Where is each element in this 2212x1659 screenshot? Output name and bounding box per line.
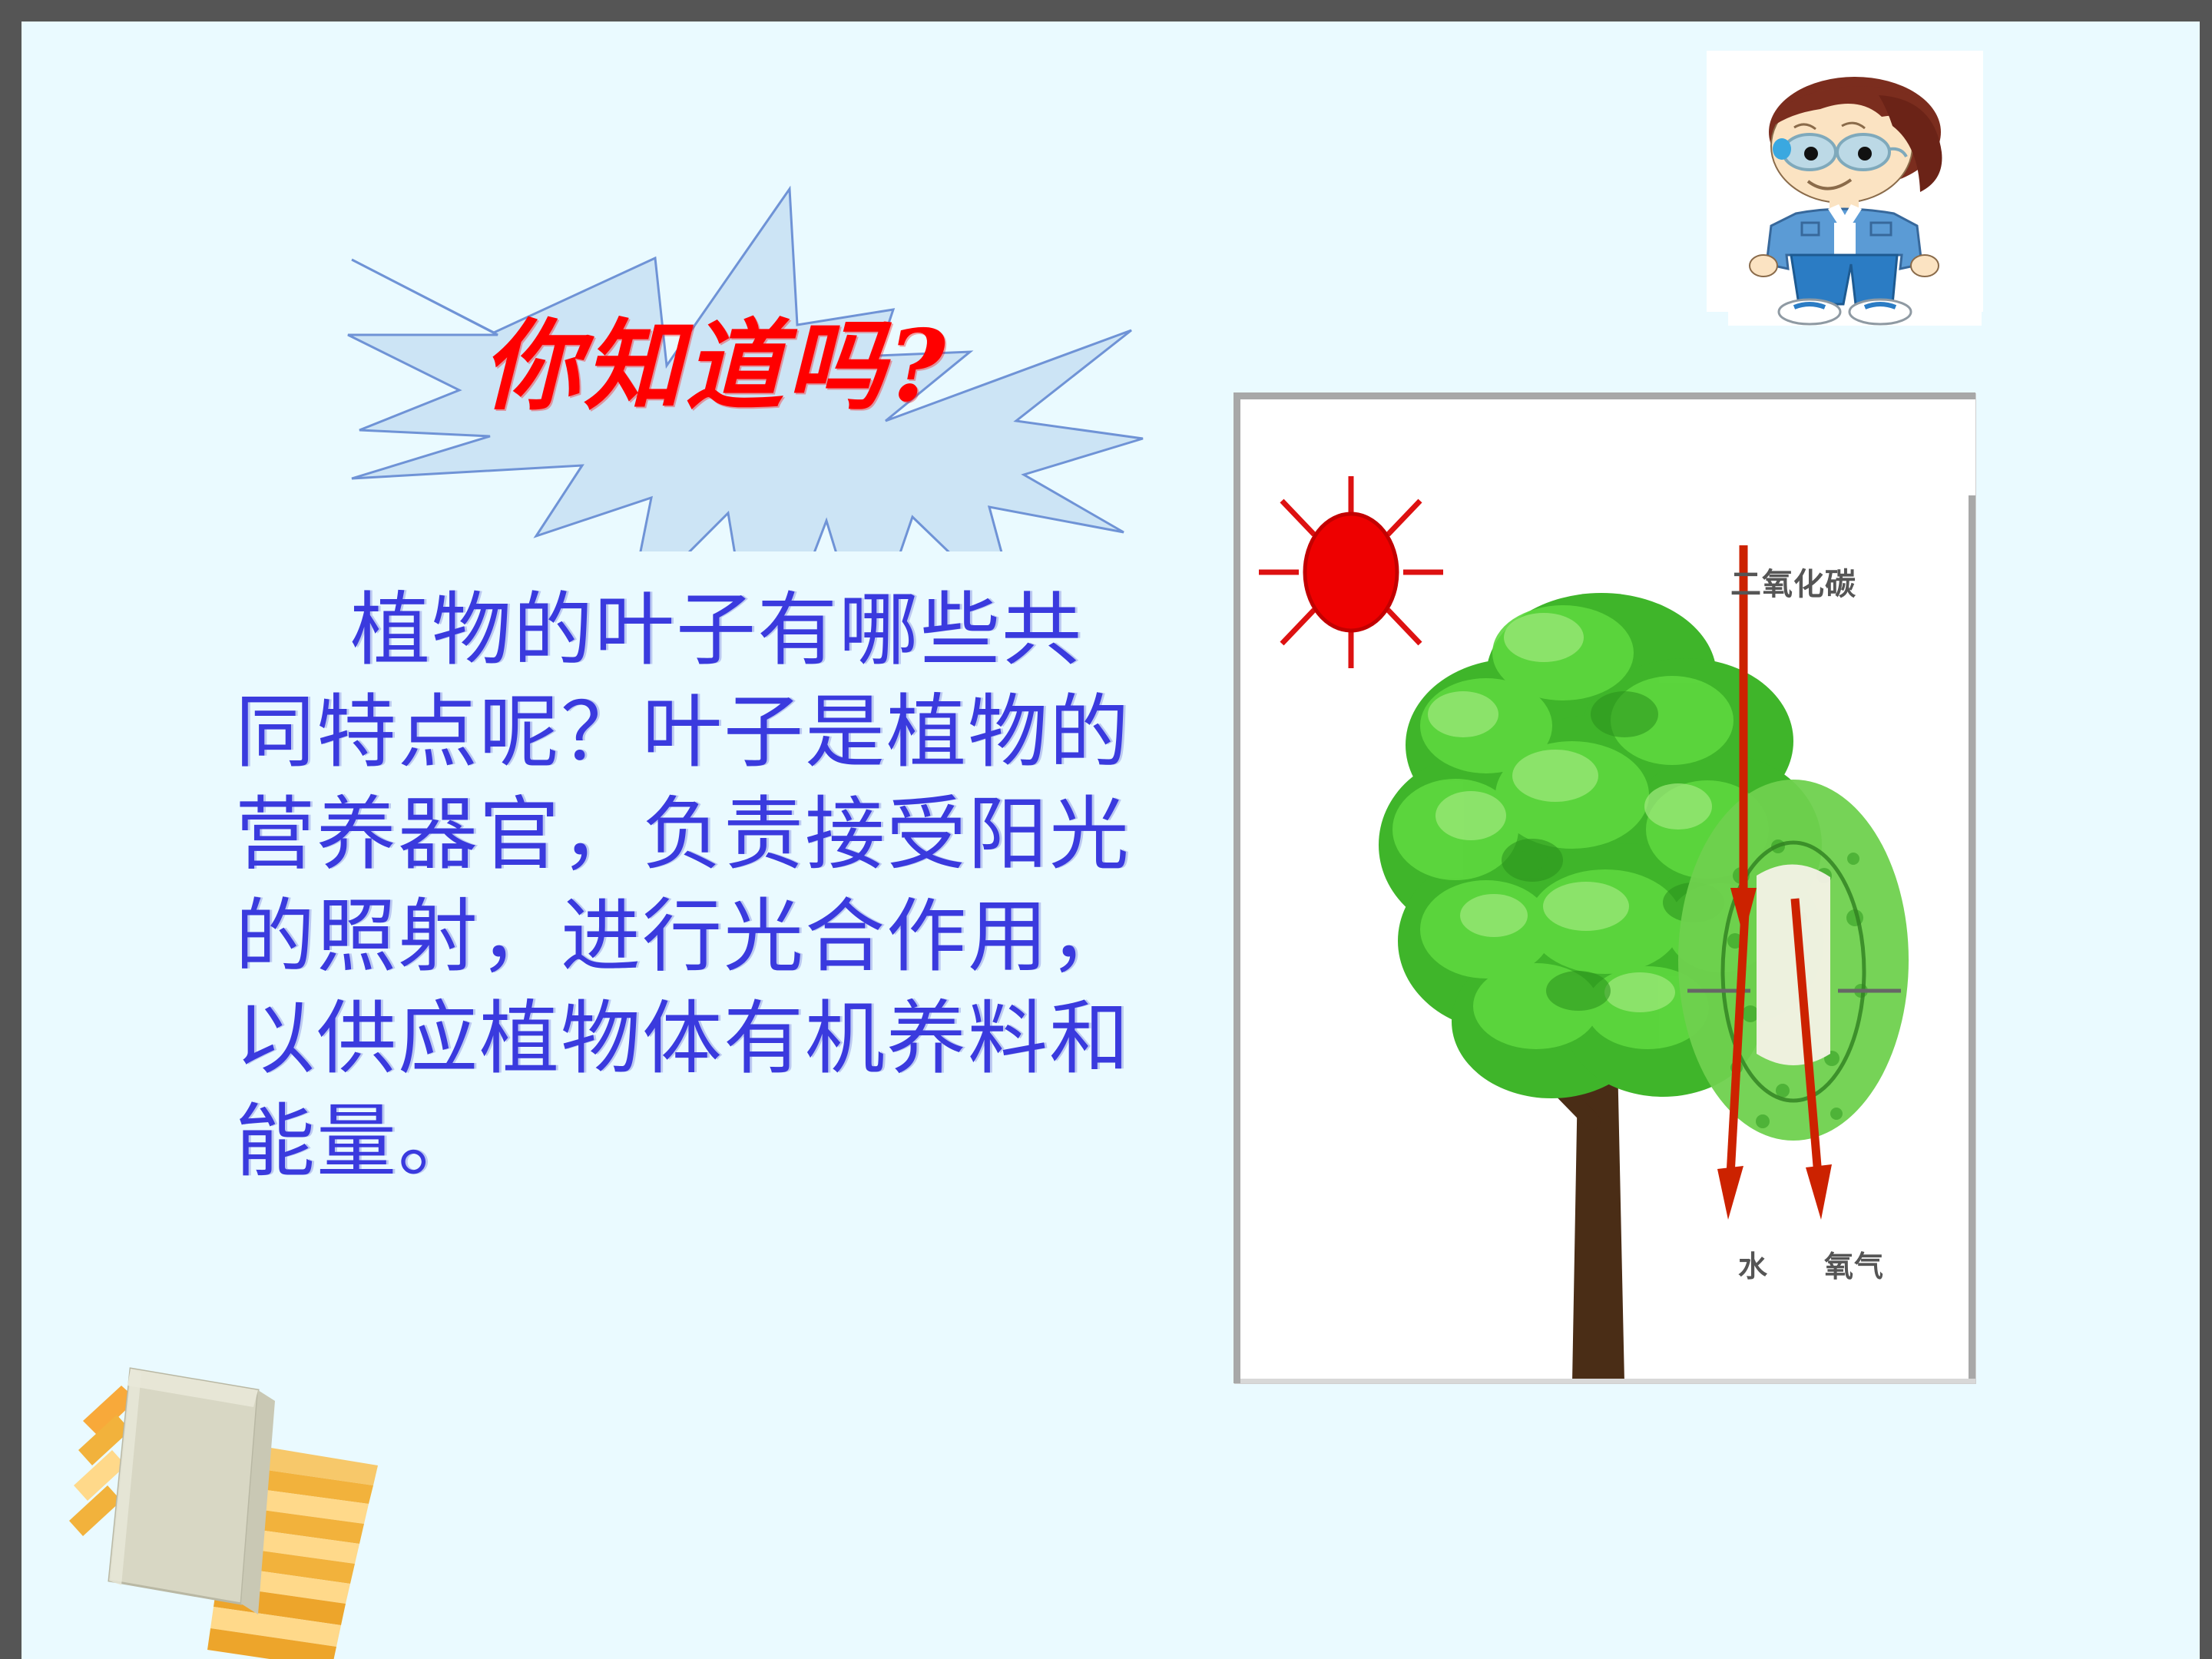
diagram-bottom-rule	[1240, 1379, 1975, 1383]
slide-outer-frame: 你知道吗? 植物的叶子有哪些共同特点呢？叶子是植物的营养器官，负责接受阳光的照射…	[0, 0, 2212, 1659]
boy-svg	[1728, 72, 1982, 326]
book-stack-illustration	[57, 1350, 387, 1659]
photosynthesis-diagram: 二氧化碳 水 氧气	[1233, 392, 1975, 1383]
callout-title: 你知道吗?	[482, 317, 989, 416]
cartoon-boy-illustration	[1728, 72, 1982, 326]
arrow-co2	[1730, 545, 1757, 937]
label-water: 水	[1738, 1243, 1768, 1285]
arrow-oxygen	[1795, 899, 1832, 1220]
starburst-callout: 你知道吗?	[329, 160, 1151, 551]
arrows-svg	[1624, 538, 1947, 1306]
gas-flow-arrows	[1624, 538, 1947, 1306]
body-paragraph: 植物的叶子有哪些共同特点呢？叶子是植物的营养器官，负责接受阳光的照射，进行光合作…	[235, 579, 1149, 1193]
books-svg	[57, 1350, 387, 1659]
arrow-water	[1717, 899, 1746, 1220]
label-oxygen: 氧气	[1824, 1243, 1884, 1285]
slide-canvas: 你知道吗? 植物的叶子有哪些共同特点呢？叶子是植物的营养器官，负责接受阳光的照射…	[22, 22, 2200, 1659]
diagram-right-rule	[1969, 495, 1975, 1383]
diagram-inner: 二氧化碳 水 氧气	[1240, 399, 1975, 1383]
label-carbon-dioxide: 二氧化碳	[1730, 559, 1856, 604]
